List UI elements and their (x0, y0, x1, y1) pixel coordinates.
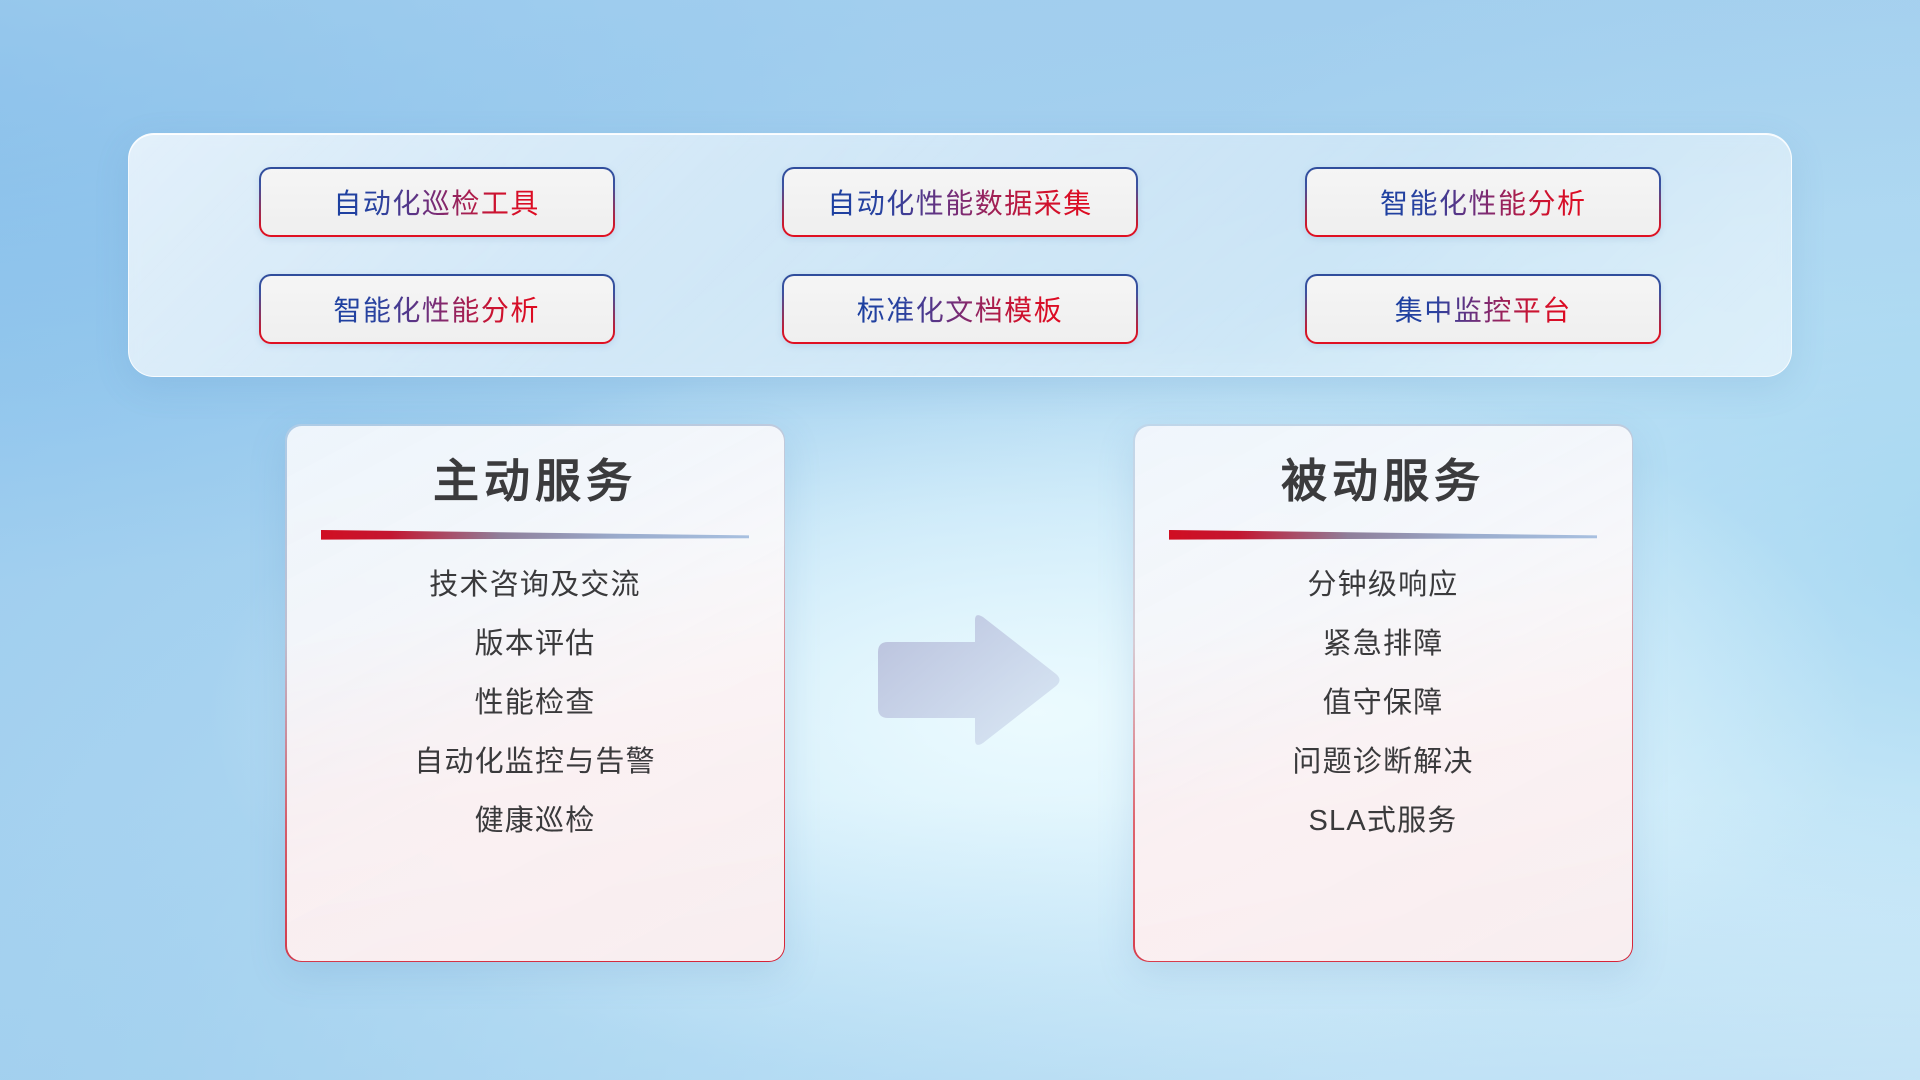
capability-pill-6[interactable]: 集中监控平台 (1305, 274, 1661, 344)
list-item: 问题诊断解决 (1292, 743, 1473, 782)
capability-pill-5[interactable]: 标准化文档模板 (782, 274, 1138, 344)
capability-pill-2-inner: 自动化性能数据采集 (784, 169, 1136, 235)
service-card-active-list: 技术咨询及交流 版本评估 性能检查 自动化监控与告警 健康巡检 (287, 566, 784, 842)
list-item: 技术咨询及交流 (429, 566, 640, 605)
capability-pill-1[interactable]: 自动化巡检工具 (259, 167, 615, 237)
service-card-active-divider (321, 527, 749, 542)
list-item: 紧急排障 (1323, 625, 1444, 664)
capability-pill-6-label: 集中监控平台 (1395, 289, 1572, 329)
capability-pill-3[interactable]: 智能化性能分析 (1305, 167, 1661, 237)
list-item: 性能检查 (475, 684, 596, 723)
capability-pill-4[interactable]: 智能化性能分析 (259, 274, 615, 344)
capability-pill-2-label: 自动化性能数据采集 (827, 182, 1093, 222)
list-item: 自动化监控与告警 (414, 743, 656, 782)
right-arrow-icon (872, 612, 1062, 748)
list-item: SLA式服务 (1308, 802, 1457, 841)
service-card-active-title: 主动服务 (433, 453, 637, 509)
capability-pill-5-label: 标准化文档模板 (857, 289, 1064, 329)
service-card-passive-divider (1169, 527, 1597, 542)
service-card-active[interactable]: 主动服务 技术咨询及交流 版本评估 性能检查 自动化监控与告警 (285, 424, 785, 962)
capability-pill-3-label: 智能化性能分析 (1380, 182, 1587, 222)
capability-pill-4-inner: 智能化性能分析 (261, 276, 613, 342)
list-item: 健康巡检 (475, 802, 596, 841)
service-card-passive-inner: 被动服务 分钟级响应 紧急排障 值守保障 问题诊断解决 (1135, 426, 1632, 961)
service-card-passive[interactable]: 被动服务 分钟级响应 紧急排障 值守保障 问题诊断解决 (1133, 424, 1633, 962)
capability-pill-2[interactable]: 自动化性能数据采集 (782, 167, 1138, 237)
list-item: 值守保障 (1323, 684, 1444, 723)
capability-pill-3-inner: 智能化性能分析 (1307, 169, 1659, 235)
list-item: 版本评估 (475, 625, 596, 664)
capability-pill-1-inner: 自动化巡检工具 (261, 169, 613, 235)
capability-pill-6-inner: 集中监控平台 (1307, 276, 1659, 342)
capability-pill-5-inner: 标准化文档模板 (784, 276, 1136, 342)
list-item: 分钟级响应 (1307, 566, 1458, 605)
capability-pill-4-label: 智能化性能分析 (333, 289, 540, 329)
service-card-active-inner: 主动服务 技术咨询及交流 版本评估 性能检查 自动化监控与告警 (287, 426, 784, 961)
capability-pill-1-label: 自动化巡检工具 (333, 182, 540, 222)
capability-panel: 自动化巡检工具 自动化性能数据采集 智能化性能分析 智能化性能分析 标准化文档模… (128, 133, 1792, 377)
service-card-passive-title: 被动服务 (1281, 453, 1485, 509)
service-card-passive-list: 分钟级响应 紧急排障 值守保障 问题诊断解决 SLA式服务 (1135, 566, 1632, 842)
capability-pill-grid: 自动化巡检工具 自动化性能数据采集 智能化性能分析 智能化性能分析 标准化文档模… (129, 134, 1791, 376)
